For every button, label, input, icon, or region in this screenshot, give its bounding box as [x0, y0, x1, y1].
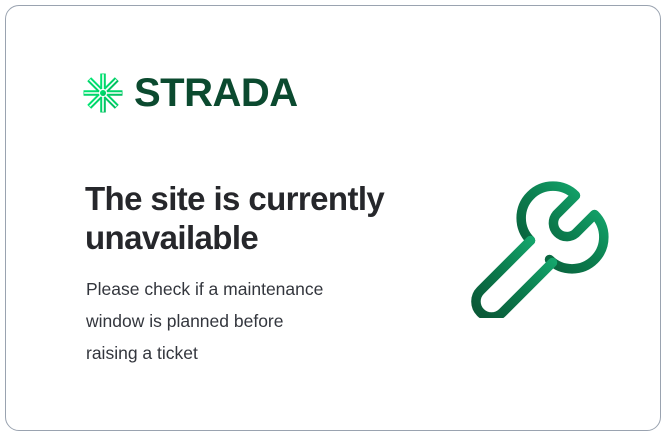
description-line: Please check if a maintenance [86, 274, 406, 306]
brand-lockup: STRADA [82, 72, 298, 114]
page-title: The site is currently unavailable [85, 180, 425, 258]
brand-wordmark: STRADA [134, 73, 298, 113]
description-line: raising a ticket [86, 338, 406, 370]
description-line: window is planned before [86, 306, 406, 338]
error-page: STRADA The site is currently unavailable… [0, 0, 666, 436]
page-description: Please check if a maintenance window is … [86, 274, 406, 370]
strada-asterisk-icon [82, 72, 124, 114]
status-card: STRADA The site is currently unavailable… [5, 5, 661, 431]
wrench-icon [458, 154, 622, 318]
